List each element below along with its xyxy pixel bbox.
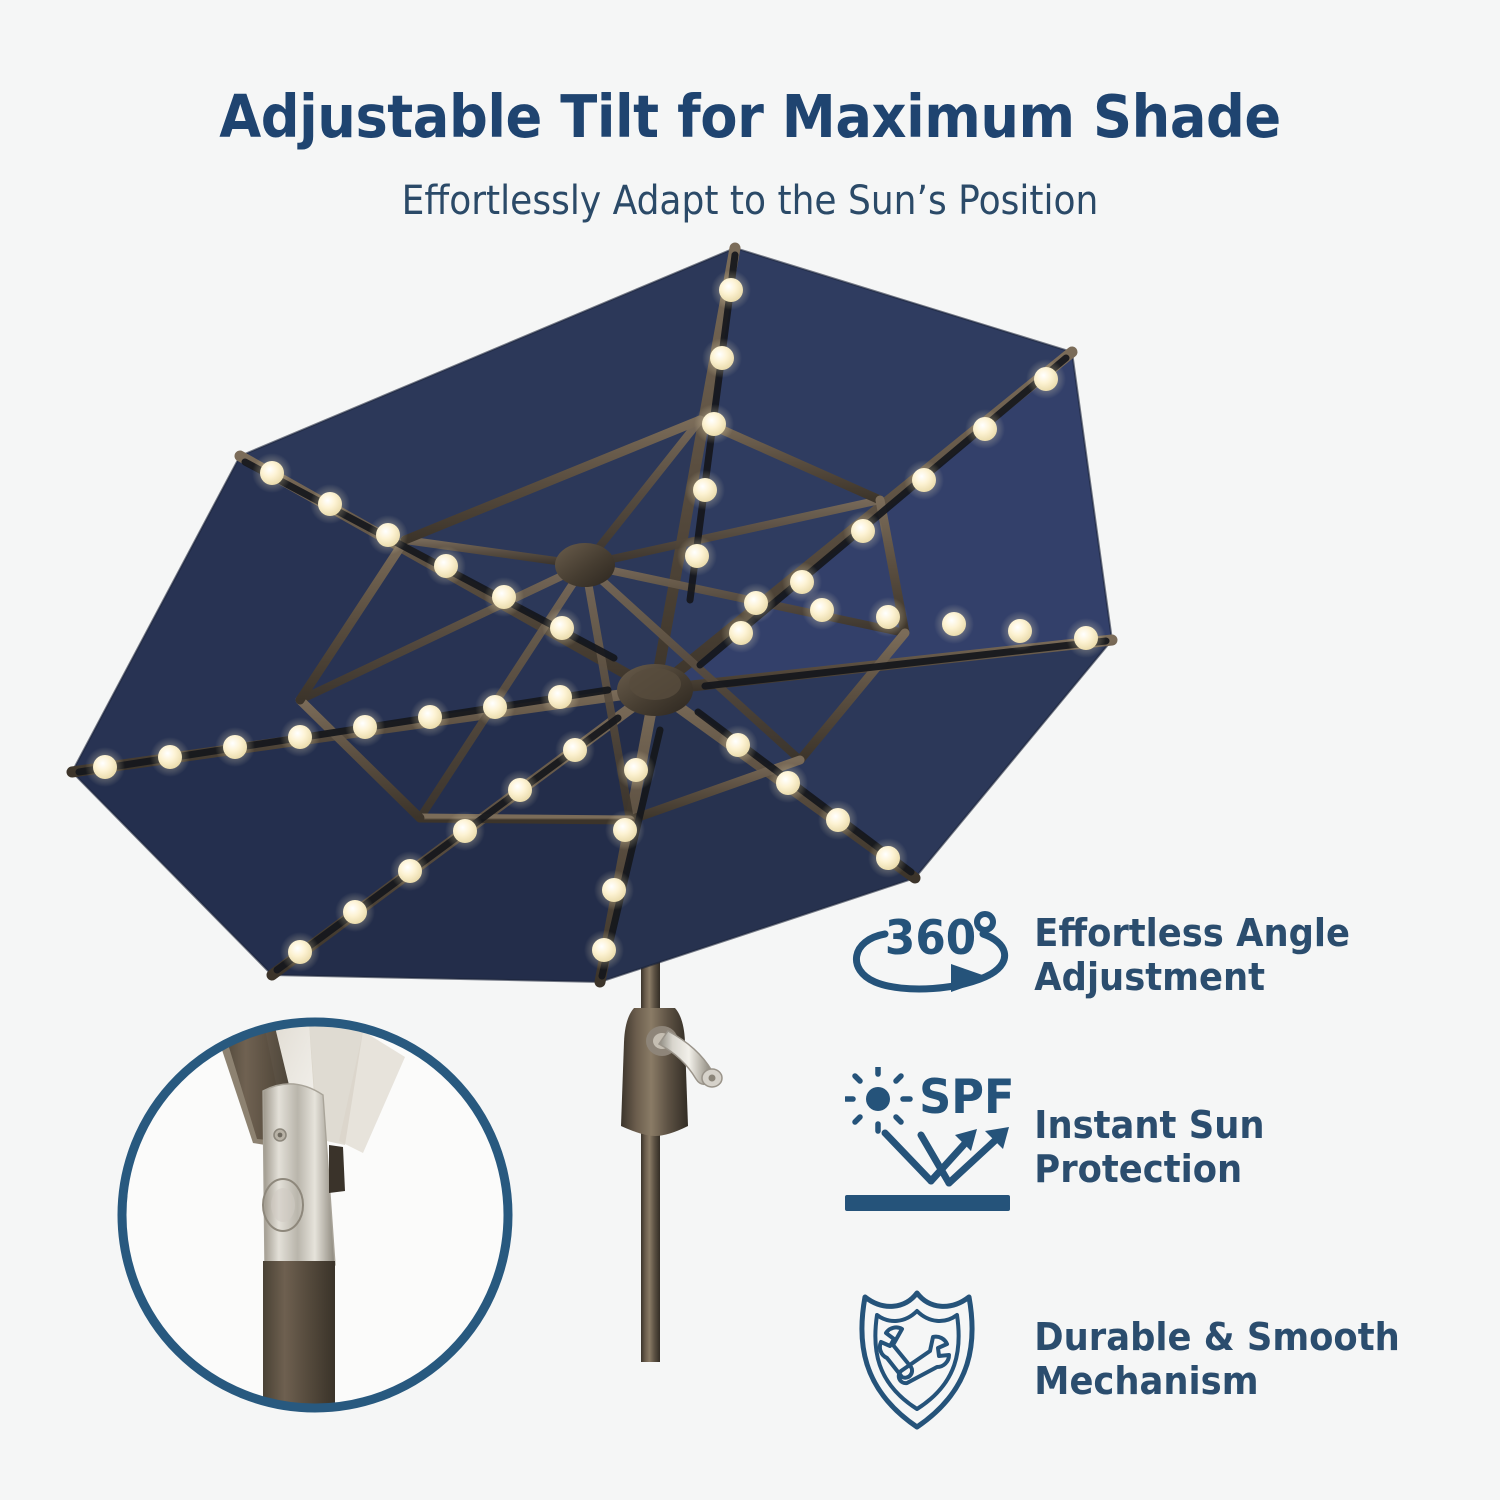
led-bulb [826,808,850,832]
spf-sun-protection-icon: SPF [845,1067,1025,1227]
led-bulb [93,755,117,779]
led-bulb [434,554,458,578]
led-bulb [550,616,574,640]
protective-surface-bar [845,1195,1010,1211]
led-bulb [223,735,247,759]
degree-symbol [977,914,993,930]
led-bulb [876,846,900,870]
wrench-1 [880,1327,912,1377]
led-bulb [376,523,400,547]
led-bulb [288,725,312,749]
led-bulb [453,819,477,843]
feature-label-2: Durable & Smooth Mechanism [1025,1315,1453,1403]
led-bulb [353,715,377,739]
led-bulb [158,745,182,769]
led-bulb [613,818,637,842]
tilt-collar-silver [263,1084,335,1274]
feature-label-1-line1: Instant Sun Protection [1034,1103,1453,1191]
feature-label-1: Instant Sun Protection [1025,1103,1453,1191]
led-bulb [876,605,900,629]
shield-wrenches-durability-icon [845,1279,1025,1439]
led-bulb [685,544,709,568]
infographic-page: Adjustable Tilt for Maximum Shade Effort… [0,0,1500,1500]
led-bulb [602,878,626,902]
feature-list: 360 Effortless Angle Adjustment [845,880,1485,1476]
led-bulb [1008,619,1032,643]
sun-core [866,1087,890,1111]
crank-housing [621,1008,688,1136]
runner-hub [555,543,615,587]
tilt-slot [329,1145,345,1193]
led-bulb [548,685,572,709]
led-bulb [790,570,814,594]
spf-sun-protection-icon-wrap: SPF [845,1067,1025,1227]
feature-label-2-line1: Durable & Smooth [1034,1315,1453,1359]
led-bulb [398,859,422,883]
reflected-ray-2 [949,1135,1001,1183]
led-bulb [729,621,753,645]
feature-item-effortless-angle-adjustment: 360 Effortless Angle Adjustment [845,880,1485,1030]
feature-label-2-line2: Mechanism [1034,1359,1453,1403]
hinge-screw-slot [278,1133,283,1138]
led-bulb [776,771,800,795]
feature-label-0: Effortless Angle Adjustment [1025,911,1453,999]
360-label: 360 [885,910,976,965]
led-bulb [592,938,616,962]
lower-pole [263,1261,335,1417]
led-bulb [343,900,367,924]
led-bulb [693,478,717,502]
led-bulb [624,758,648,782]
main-hub-cap [629,668,681,700]
led-bulb [492,585,516,609]
led-bulb [702,412,726,436]
spf-label: SPF [919,1069,1014,1124]
feature-label-0-line2: Adjustment [1034,955,1453,999]
led-bulb [973,417,997,441]
led-bulb [710,346,734,370]
shield-wrenches-durability-icon-wrap [845,1279,1025,1439]
led-bulb [260,461,284,485]
led-bulb [483,695,507,719]
360-degree-rotation-icon: 360 [845,898,1025,1013]
led-bulb [851,519,875,543]
crank-knob-pin [709,1075,716,1082]
led-bulb [1074,626,1098,650]
led-bulb [318,492,342,516]
tilt-mechanism-detail-inset [113,1013,517,1417]
feature-item-instant-sun-protection: SPF Instant Sun Protection [845,1052,1485,1242]
feature-item-durable-smooth-mechanism: Durable & Smooth Mechanism [845,1264,1485,1454]
led-bulb [563,738,587,762]
orbit-arrowhead [951,964,991,992]
led-bulb [508,778,532,802]
led-bulb [810,598,834,622]
led-bulb [726,733,750,757]
led-bulb [288,940,312,964]
led-bulb [719,278,743,302]
led-bulb [942,612,966,636]
led-bulb [912,468,936,492]
tilt-push-button-face[interactable] [271,1188,295,1222]
led-bulb [1034,367,1058,391]
led-bulb [744,591,768,615]
360-degree-rotation-icon-wrap: 360 [845,898,1025,1013]
led-bulb [418,705,442,729]
feature-label-0-line1: Effortless Angle [1034,911,1453,955]
